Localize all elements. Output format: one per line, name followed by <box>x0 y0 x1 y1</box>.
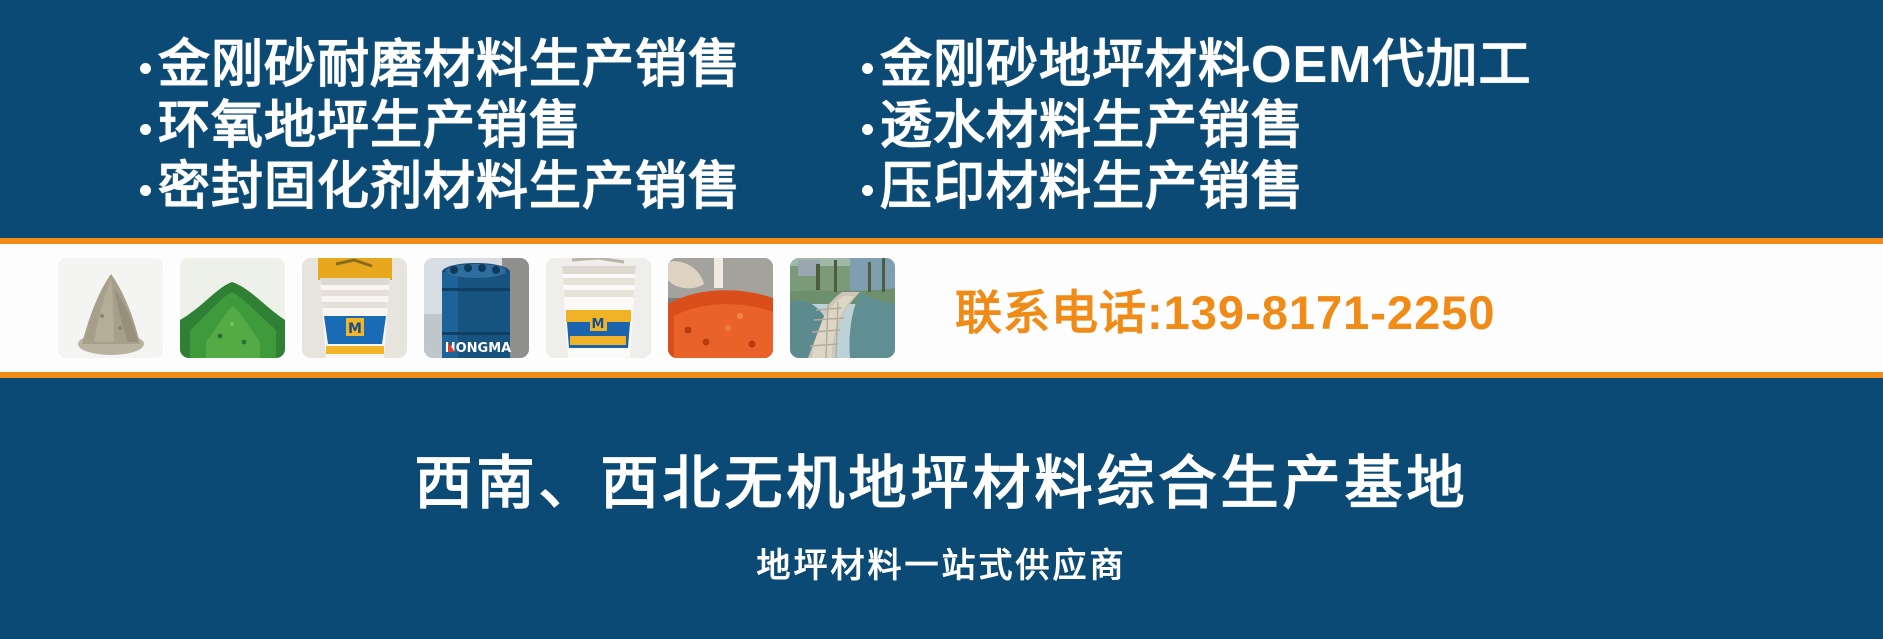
bullet-dot-icon <box>140 63 151 74</box>
contact-phone-text: 联系电话:139-8171-2250 <box>955 286 1496 339</box>
bullet-column-left: 金刚砂耐磨材料生产销售 环氧地坪生产销售 密封固化剂材料生产销售 <box>0 0 720 238</box>
bullet-dot-icon <box>862 124 873 135</box>
main-headline: 西南、西北无机地坪材料综合生产基地 <box>414 436 1468 520</box>
sub-headline: 地坪材料一站式供应商 <box>757 538 1127 587</box>
contact-phone[interactable]: 联系电话:139-8171-2250 <box>955 274 1496 343</box>
bullet-item-right-1: 金刚砂地坪材料OEM代加工 <box>862 38 1883 93</box>
bullet-item-right-3: 压印材料生产销售 <box>862 160 1883 215</box>
bullet-dot-icon <box>140 124 151 135</box>
bullet-dot-icon <box>862 63 873 74</box>
bullet-label: 金刚砂地坪材料OEM代加工 <box>880 38 1531 93</box>
stamped-concrete-walkway-photo <box>790 258 895 358</box>
bullet-column-right: 金刚砂地坪材料OEM代加工 透水材料生产销售 压印材料生产销售 <box>720 0 1883 238</box>
red-permeable-aggregate-photo <box>668 258 773 358</box>
product-thumbnail-list: M <box>0 258 895 358</box>
product-showcase-strip: M <box>0 238 1883 378</box>
bullet-label: 环氧地坪生产销售 <box>158 99 582 154</box>
bullet-label: 透水材料生产销售 <box>880 99 1304 154</box>
green-emery-powder-photo <box>180 258 285 358</box>
bullet-dot-icon <box>140 185 151 196</box>
bullet-item-left-3: 密封固化剂材料生产销售 <box>140 160 720 215</box>
bullet-label: 密封固化剂材料生产销售 <box>158 160 741 215</box>
bullet-label: 压印材料生产销售 <box>880 160 1304 215</box>
emery-wear-resistant-powder-photo <box>58 258 163 358</box>
bullet-item-left-2: 环氧地坪生产销售 <box>140 99 720 154</box>
bullet-item-left-1: 金刚砂耐磨材料生产销售 <box>140 38 720 93</box>
concrete-sealer-bucket-photo: M <box>302 258 407 358</box>
advertising-banner: 金刚砂耐磨材料生产销售 环氧地坪生产销售 密封固化剂材料生产销售 金刚砂地坪材料… <box>0 0 1883 639</box>
svg-text:M: M <box>592 317 605 332</box>
footer-headline-section: 西南、西北无机地坪材料综合生产基地 地坪材料一站式供应商 <box>0 378 1883 639</box>
bullet-label: 金刚砂耐磨材料生产销售 <box>158 38 741 93</box>
bullet-item-right-2: 透水材料生产销售 <box>862 99 1883 154</box>
hongma-blue-drum-photo: HONGMA <box>424 258 529 358</box>
svg-text:M: M <box>348 321 362 337</box>
bullet-dot-icon <box>862 185 873 196</box>
service-bullets-section: 金刚砂耐磨材料生产销售 环氧地坪生产销售 密封固化剂材料生产销售 金刚砂地坪材料… <box>0 0 1883 238</box>
svg-text:HONGMA: HONGMA <box>445 341 511 356</box>
epoxy-floor-paint-bucket-photo: M <box>546 258 651 358</box>
